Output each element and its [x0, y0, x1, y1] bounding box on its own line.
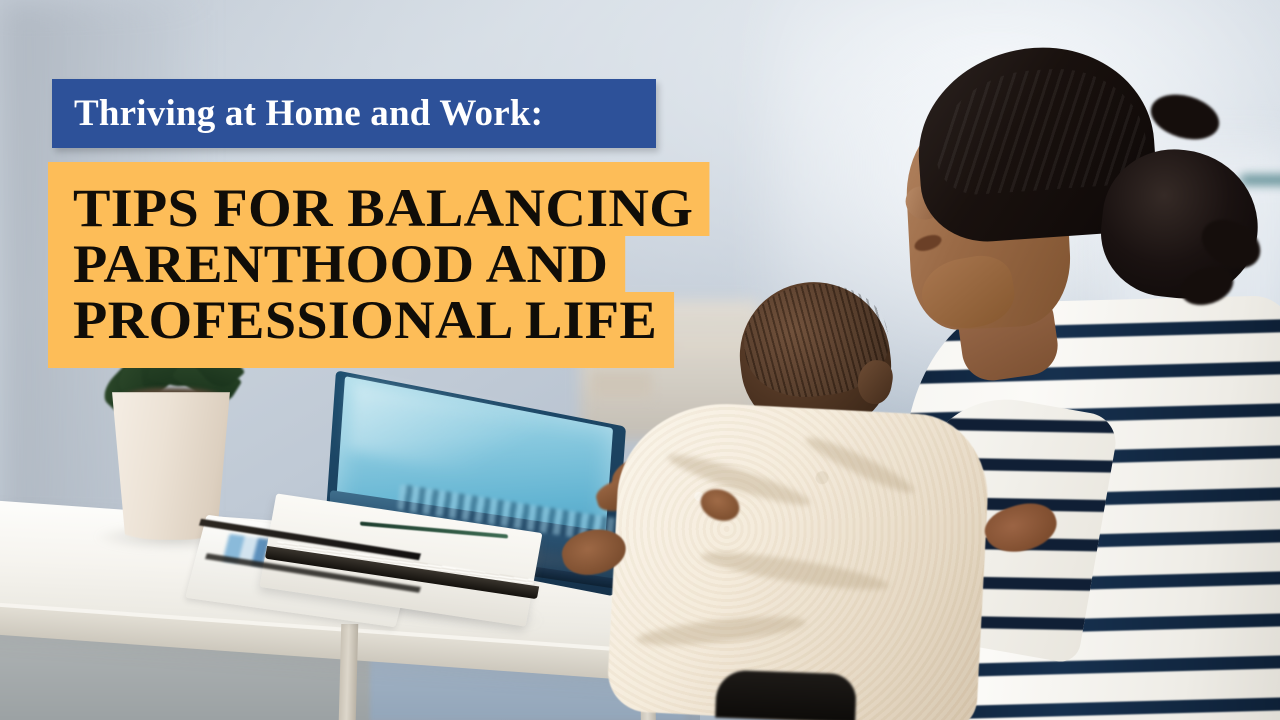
kicker-banner: Thriving at Home and Work:	[52, 79, 656, 148]
kicker-text: Thriving at Home and Work:	[52, 95, 543, 132]
desk-leg-left	[339, 624, 359, 720]
background-teal-object	[1240, 175, 1280, 185]
headline-line-3: PROFESSIONAL LIFE	[48, 292, 674, 368]
baby-trousers	[715, 670, 857, 720]
shelf-drawer	[592, 372, 652, 398]
headline-block: TIPS FOR BALANCING PARENTHOOD AND PROFES…	[48, 162, 748, 368]
header-graphic: Thriving at Home and Work: TIPS FOR BALA…	[0, 0, 1280, 720]
headline-line-1: TIPS FOR BALANCING	[48, 162, 710, 236]
headline-line-2: PARENTHOOD AND	[48, 236, 625, 292]
